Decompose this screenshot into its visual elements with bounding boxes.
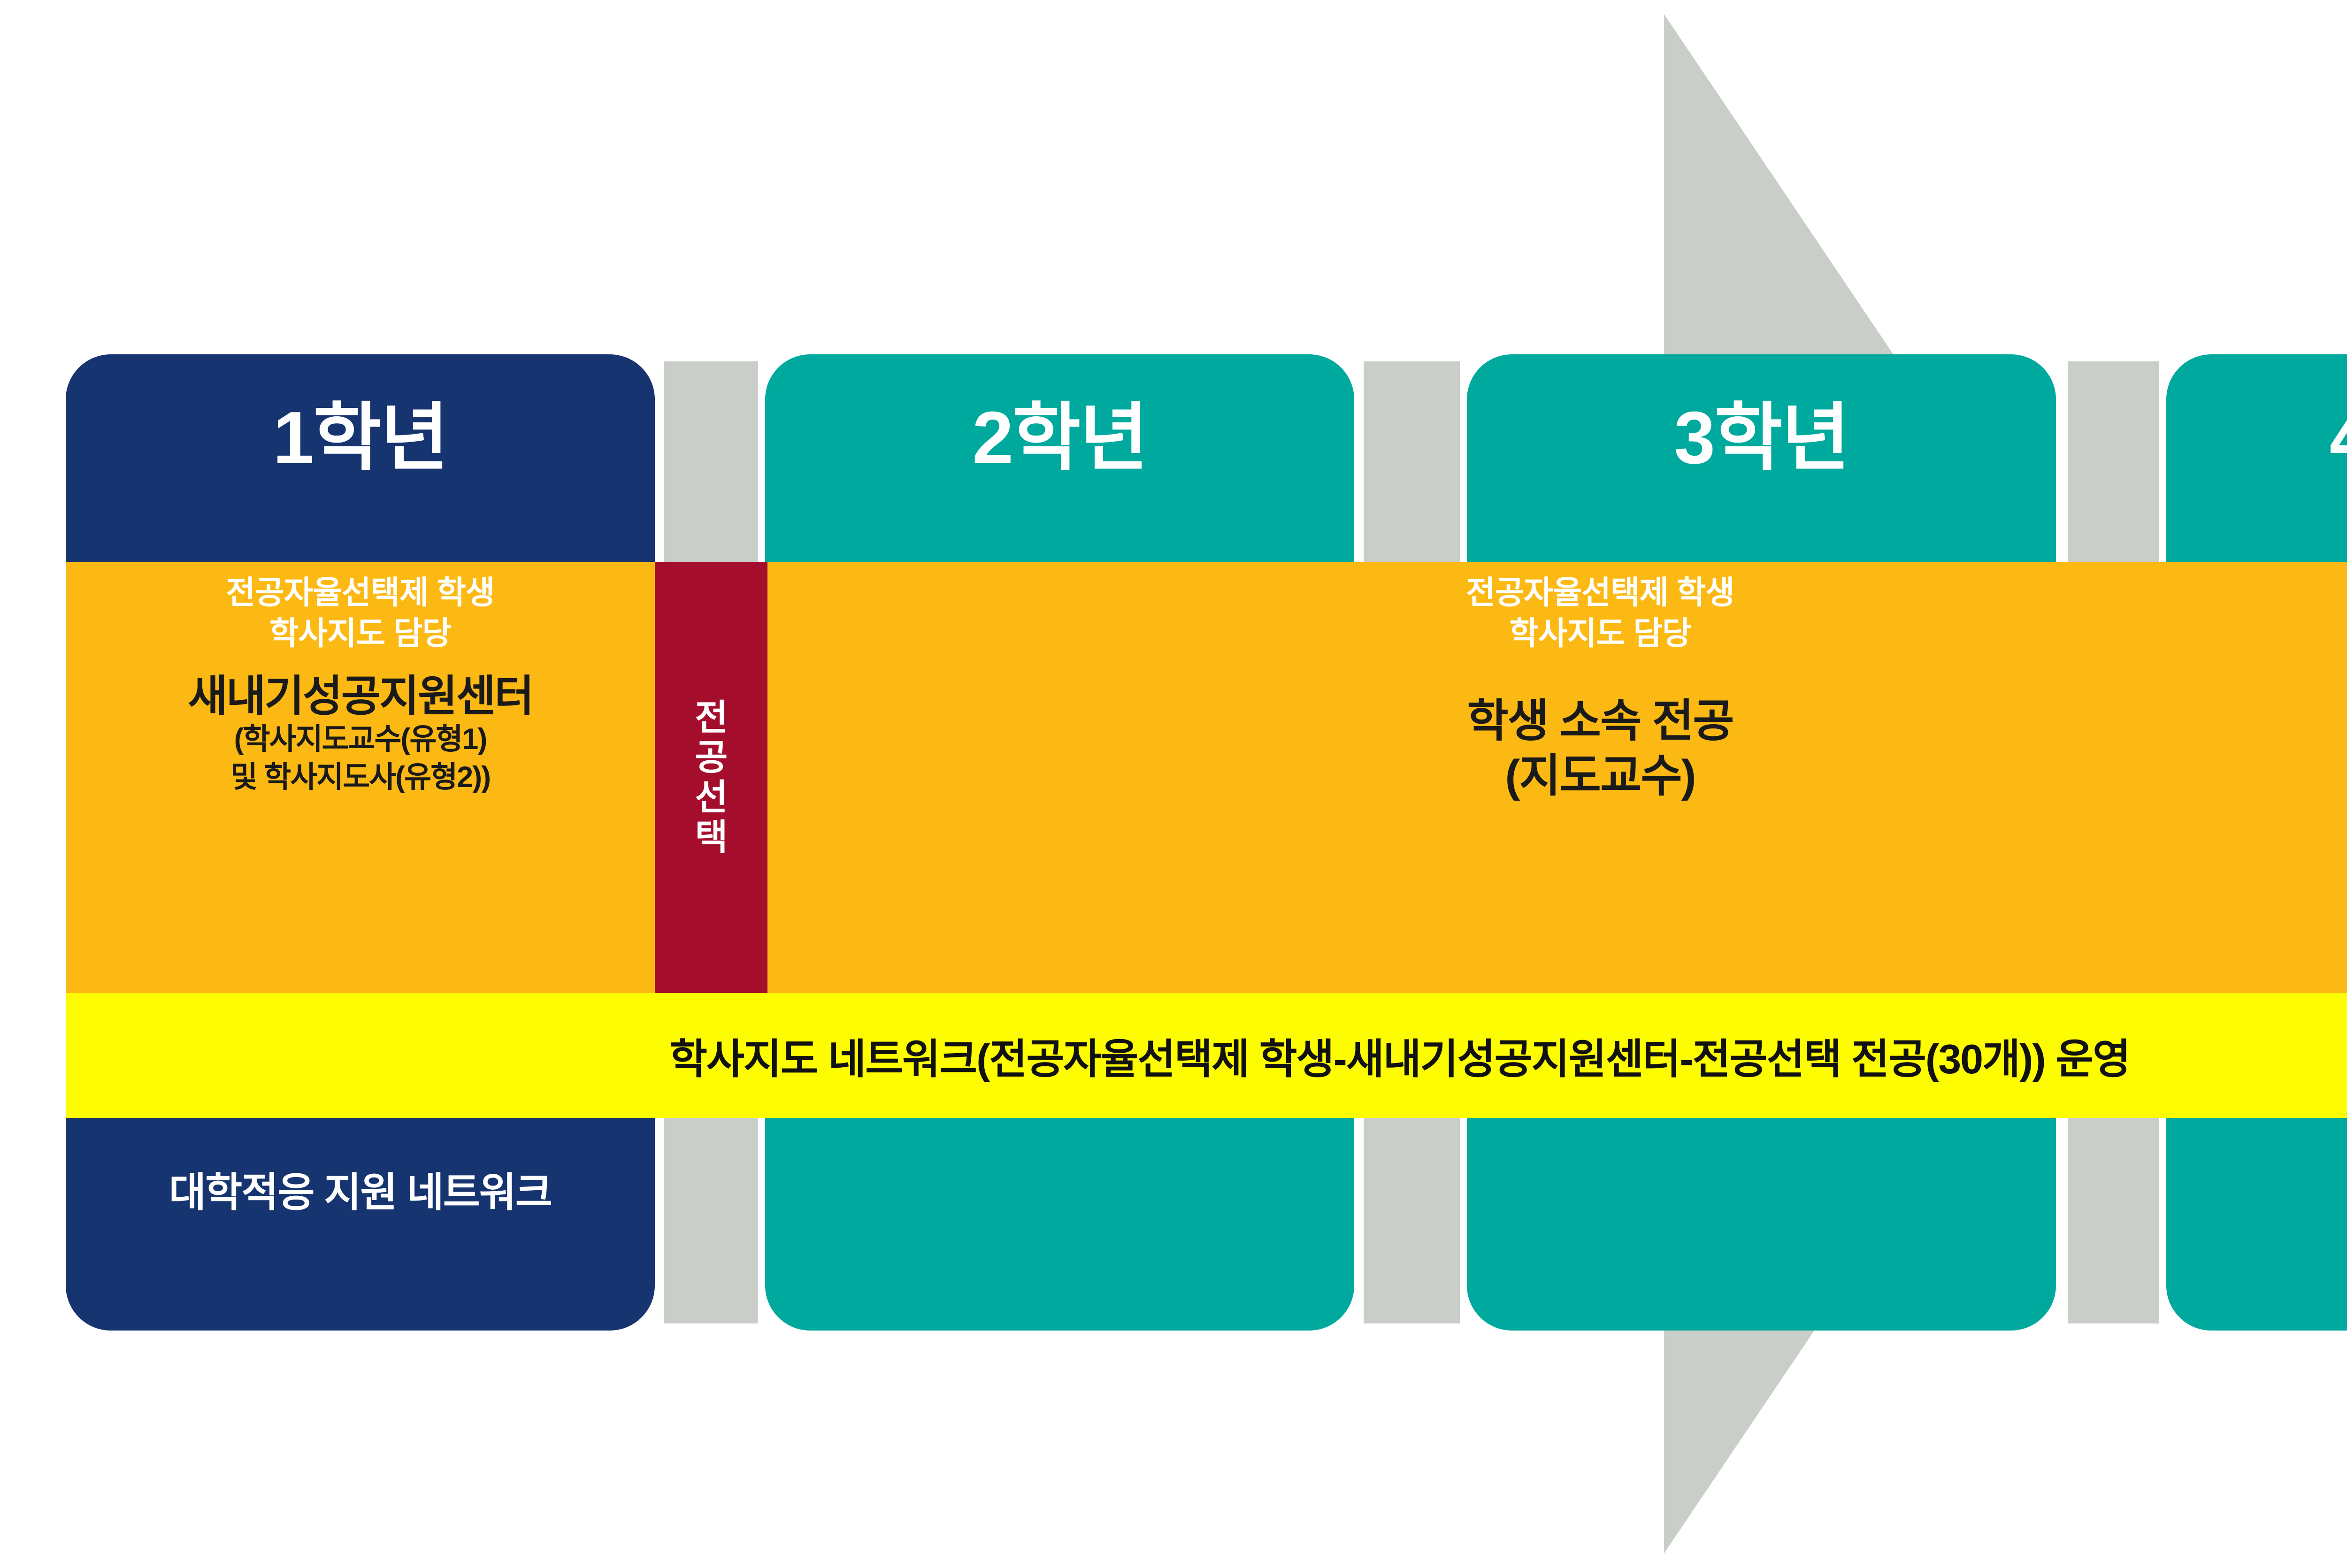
advising-left-subtitle-line1: 전공자율선택제 학생 <box>226 573 495 613</box>
advising-left-subtitle-line2: 학사지도 담당 <box>269 613 451 654</box>
advising-left-note-line1: (학사지도교수(유형1) <box>234 721 487 757</box>
college-adaptation-network-label: 대학적응 지원 네트워크 <box>66 1159 655 1218</box>
advising-left-block: 전공자율선택제 학생 학사지도 담당 새내기성공지원센터 (학사지도교수(유형1… <box>66 562 655 993</box>
year-column-2-label: 2학년 <box>765 399 1354 477</box>
year-column-1-label: 1학년 <box>66 399 655 477</box>
advising-center-main-line2: (지도교수) <box>1505 749 1695 803</box>
major-selection-label: 전공선택 <box>692 698 730 857</box>
advising-left-note-line2: 및 학사지도사(유형2)) <box>230 759 490 795</box>
advising-center-block: 전공자율선택제 학생 학사지도 담당 학생 소속 전공 (지도교수) <box>767 562 2347 993</box>
advising-band: 전공자율선택제 학생 학사지도 담당 새내기성공지원센터 (학사지도교수(유형1… <box>66 562 2347 993</box>
advising-center-main-line1: 학생 소속 전공 <box>1467 694 1733 749</box>
major-selection-strip[interactable]: 전공선택 <box>655 562 767 993</box>
advising-left-main: 새내기성공지원센터 <box>188 674 533 719</box>
year-column-4-label: 4(5)학년 <box>2166 399 2347 477</box>
advising-center-subtitle-line1: 전공자율선택제 학생 <box>1466 573 1734 613</box>
advising-center-subtitle-line2: 학사지도 담당 <box>1509 613 1691 654</box>
year-column-3-label: 3학년 <box>1467 399 2056 477</box>
network-banner: 학사지도 네트워크(전공자율선택제 학생-새내기성공지원센터-전공선택 전공(3… <box>66 993 2347 1118</box>
diagram-canvas: 1학년 2학년 3학년 4(5)학년 전공자율선택제 학생 학사지도 담당 새내… <box>0 0 2347 1568</box>
network-banner-text: 학사지도 네트워크(전공자율선택제 학생-새내기성공지원센터-전공선택 전공(3… <box>669 1026 2130 1086</box>
